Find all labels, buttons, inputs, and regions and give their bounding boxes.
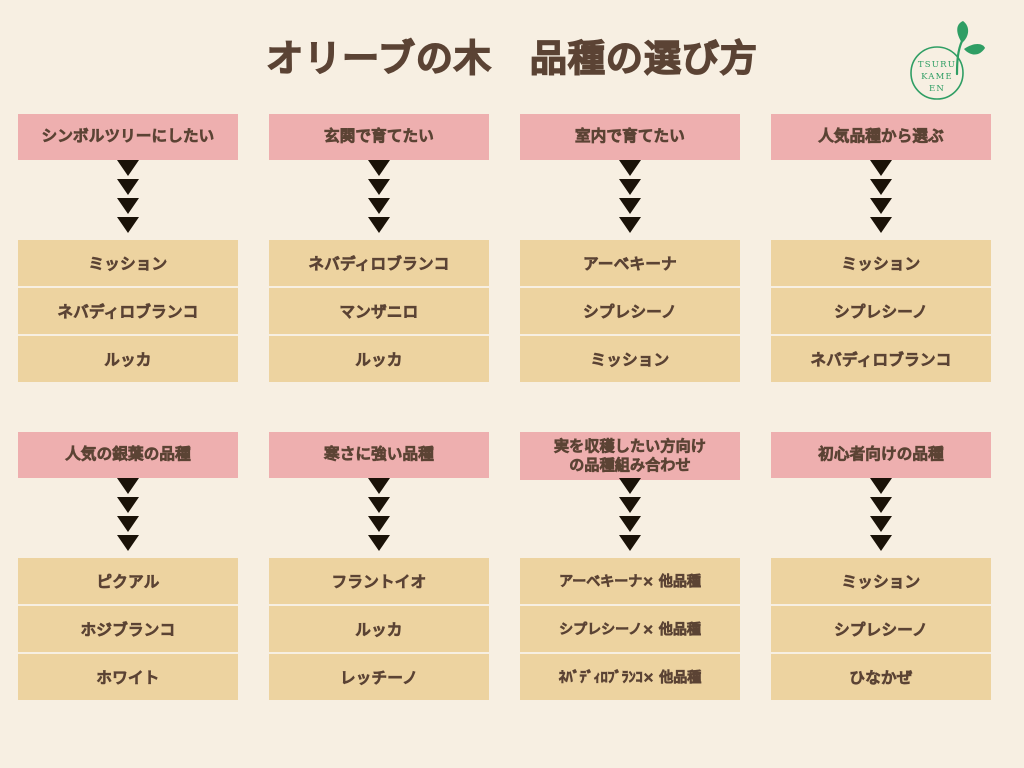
variety-item-label: ネバディロブランコ: [308, 252, 449, 274]
variety-item[interactable]: シプレシーノ× 他品種: [520, 606, 740, 652]
variety-item[interactable]: ミッション: [771, 240, 991, 286]
variety-item[interactable]: マンザニロ: [269, 288, 489, 334]
category-header-label: 玄関で育てたい: [324, 127, 434, 147]
category-column: シンボルツリーにしたい ミッション ネバディロブランコ ルッカ: [18, 114, 238, 384]
category-header-label: 室内で育てたい: [575, 127, 685, 147]
chevron-down-triangle-icon: [870, 535, 892, 551]
category-column: 玄関で育てたい ネバディロブランコ マンザニロ ルッカ: [269, 114, 489, 384]
chevron-down-triangle-icon: [368, 516, 390, 532]
category-column: 人気の銀葉の品種 ピクアル ホジブランコ ホワイト: [18, 432, 238, 702]
logo-line-2: KAME: [921, 72, 953, 82]
chevron-down-triangle-icon: [619, 179, 641, 195]
chevron-down-triangle-icon: [368, 160, 390, 176]
variety-item-label: ピクアル: [96, 570, 159, 592]
chevron-down-triangle-icon: [117, 179, 139, 195]
category-header-label: シンボルツリーにしたい: [42, 127, 215, 147]
variety-item[interactable]: シプレシーノ: [771, 288, 991, 334]
variety-item-label: ひなかぜ: [849, 666, 912, 688]
chevron-down-triangle-icon: [870, 217, 892, 233]
variety-item[interactable]: ネバディロブランコ: [18, 288, 238, 334]
category-header-label: 人気品種から選ぶ: [818, 127, 944, 147]
chevron-down-triangle-icon: [368, 217, 390, 233]
variety-list: ピクアル ホジブランコ ホワイト: [18, 558, 238, 702]
arrow-stack: [771, 160, 991, 240]
variety-item-label: アーベキーナ: [583, 252, 677, 274]
variety-item[interactable]: フラントイオ: [269, 558, 489, 604]
page-header: オリーブの木 品種の選び方 TSURU KAME EN: [0, 0, 1024, 110]
variety-item-label: ミッション: [88, 252, 167, 274]
variety-list: ミッション シプレシーノ ネバディロブランコ: [771, 240, 991, 384]
logo-line-3: EN: [929, 84, 945, 94]
variety-item-label: ﾈﾊﾞﾃﾞｨﾛﾌﾞﾗﾝｺ× 他品種: [559, 667, 702, 687]
arrow-stack: [18, 478, 238, 558]
arrow-stack: [18, 160, 238, 240]
category-column: 実を収穫したい方向け の品種組み合わせ アーベキーナ× 他品種 シプレシーノ× …: [520, 432, 740, 702]
arrow-stack: [520, 478, 740, 558]
chevron-down-triangle-icon: [619, 516, 641, 532]
variety-item-label: シプレシーノ: [834, 618, 928, 640]
category-header[interactable]: 実を収穫したい方向け の品種組み合わせ: [520, 432, 740, 480]
logo-line-1: TSURU: [918, 60, 956, 70]
variety-item[interactable]: ホジブランコ: [18, 606, 238, 652]
arrow-stack: [771, 478, 991, 558]
variety-item-label: ホジブランコ: [81, 618, 176, 640]
chevron-down-triangle-icon: [368, 497, 390, 513]
chevron-down-triangle-icon: [117, 535, 139, 551]
chevron-down-triangle-icon: [117, 198, 139, 214]
arrow-stack: [269, 478, 489, 558]
variety-item-label: ルッカ: [355, 618, 402, 640]
variety-item-label: レッチーノ: [340, 666, 418, 688]
variety-item-label: フラントイオ: [332, 570, 427, 592]
category-header-label: 初心者向けの品種: [818, 445, 944, 465]
variety-item-label: シプレシーノ: [583, 300, 677, 322]
variety-item[interactable]: ミッション: [520, 336, 740, 382]
arrow-stack: [269, 160, 489, 240]
chevron-down-triangle-icon: [619, 478, 641, 494]
chevron-down-triangle-icon: [368, 478, 390, 494]
variety-item[interactable]: ネバディロブランコ: [771, 336, 991, 382]
category-header[interactable]: シンボルツリーにしたい: [18, 114, 238, 160]
chevron-down-triangle-icon: [368, 535, 390, 551]
chevron-down-triangle-icon: [619, 497, 641, 513]
variety-item[interactable]: レッチーノ: [269, 654, 489, 700]
olive-leaf-logo-icon: TSURU KAME EN: [900, 16, 996, 104]
category-column: 室内で育てたい アーベキーナ シプレシーノ ミッション: [520, 114, 740, 384]
category-header-label: 人気の銀葉の品種: [65, 445, 191, 465]
variety-list: アーベキーナ× 他品種 シプレシーノ× 他品種 ﾈﾊﾞﾃﾞｨﾛﾌﾞﾗﾝｺ× 他品…: [520, 558, 740, 702]
chevron-down-triangle-icon: [619, 217, 641, 233]
variety-list: ネバディロブランコ マンザニロ ルッカ: [269, 240, 489, 384]
category-column: 人気品種から選ぶ ミッション シプレシーノ ネバディロブランコ: [771, 114, 991, 384]
page-title: オリーブの木 品種の選び方: [0, 28, 1024, 82]
variety-item[interactable]: ホワイト: [18, 654, 238, 700]
variety-list: ミッション シプレシーノ ひなかぜ: [771, 558, 991, 702]
variety-item-label: ミッション: [590, 348, 669, 370]
chevron-down-triangle-icon: [368, 198, 390, 214]
category-header[interactable]: 室内で育てたい: [520, 114, 740, 160]
chevron-down-triangle-icon: [117, 516, 139, 532]
chevron-down-triangle-icon: [117, 497, 139, 513]
brand-logo: TSURU KAME EN: [900, 16, 996, 104]
variety-item[interactable]: ピクアル: [18, 558, 238, 604]
category-header-label: 実を収穫したい方向け の品種組み合わせ: [554, 437, 706, 476]
variety-item[interactable]: ネバディロブランコ: [269, 240, 489, 286]
category-column: 寒さに強い品種 フラントイオ ルッカ レッチーノ: [269, 432, 489, 702]
category-column: 初心者向けの品種 ミッション シプレシーノ ひなかぜ: [771, 432, 991, 702]
category-header[interactable]: 人気の銀葉の品種: [18, 432, 238, 478]
chevron-down-triangle-icon: [870, 478, 892, 494]
category-header[interactable]: 玄関で育てたい: [269, 114, 489, 160]
chevron-down-triangle-icon: [870, 179, 892, 195]
variety-item-label: ルッカ: [104, 348, 151, 370]
variety-item[interactable]: ミッション: [18, 240, 238, 286]
variety-item-label: ミッション: [841, 570, 920, 592]
chevron-down-triangle-icon: [619, 535, 641, 551]
variety-item-label: シプレシーノ: [834, 300, 928, 322]
variety-item[interactable]: ミッション: [771, 558, 991, 604]
chevron-down-triangle-icon: [870, 160, 892, 176]
variety-list: アーベキーナ シプレシーノ ミッション: [520, 240, 740, 384]
variety-list: フラントイオ ルッカ レッチーノ: [269, 558, 489, 702]
category-header-label: 寒さに強い品種: [324, 445, 434, 465]
variety-item[interactable]: ﾈﾊﾞﾃﾞｨﾛﾌﾞﾗﾝｺ× 他品種: [520, 654, 740, 700]
variety-item-label: ミッション: [841, 252, 920, 274]
variety-item-label: ネバディロブランコ: [810, 348, 951, 370]
variety-item-label: マンザニロ: [339, 300, 418, 322]
arrow-stack: [520, 160, 740, 240]
variety-item[interactable]: ルッカ: [269, 606, 489, 652]
variety-item[interactable]: アーベキーナ: [520, 240, 740, 286]
chevron-down-triangle-icon: [117, 217, 139, 233]
category-row: シンボルツリーにしたい ミッション ネバディロブランコ ルッカ 玄関で育てたい: [18, 114, 982, 384]
variety-item[interactable]: ルッカ: [269, 336, 489, 382]
variety-item[interactable]: アーベキーナ× 他品種: [520, 558, 740, 604]
category-header[interactable]: 初心者向けの品種: [771, 432, 991, 478]
variety-item-label: アーベキーナ× 他品種: [559, 571, 701, 591]
variety-item[interactable]: シプレシーノ: [771, 606, 991, 652]
chevron-down-triangle-icon: [870, 497, 892, 513]
chevron-down-triangle-icon: [619, 160, 641, 176]
variety-list: ミッション ネバディロブランコ ルッカ: [18, 240, 238, 384]
variety-item[interactable]: ルッカ: [18, 336, 238, 382]
variety-item[interactable]: シプレシーノ: [520, 288, 740, 334]
category-header[interactable]: 人気品種から選ぶ: [771, 114, 991, 160]
variety-item[interactable]: ひなかぜ: [771, 654, 991, 700]
variety-item-label: ホワイト: [96, 666, 159, 688]
variety-item-label: シプレシーノ× 他品種: [559, 619, 701, 639]
chevron-down-triangle-icon: [870, 516, 892, 532]
selection-guide-board: シンボルツリーにしたい ミッション ネバディロブランコ ルッカ 玄関で育てたい: [18, 114, 982, 714]
category-header[interactable]: 寒さに強い品種: [269, 432, 489, 478]
chevron-down-triangle-icon: [117, 478, 139, 494]
chevron-down-triangle-icon: [870, 198, 892, 214]
chevron-down-triangle-icon: [368, 179, 390, 195]
variety-item-label: ルッカ: [355, 348, 402, 370]
chevron-down-triangle-icon: [619, 198, 641, 214]
variety-item-label: ネバディロブランコ: [57, 300, 198, 322]
category-row: 人気の銀葉の品種 ピクアル ホジブランコ ホワイト 寒さに強い品種: [18, 432, 982, 702]
chevron-down-triangle-icon: [117, 160, 139, 176]
